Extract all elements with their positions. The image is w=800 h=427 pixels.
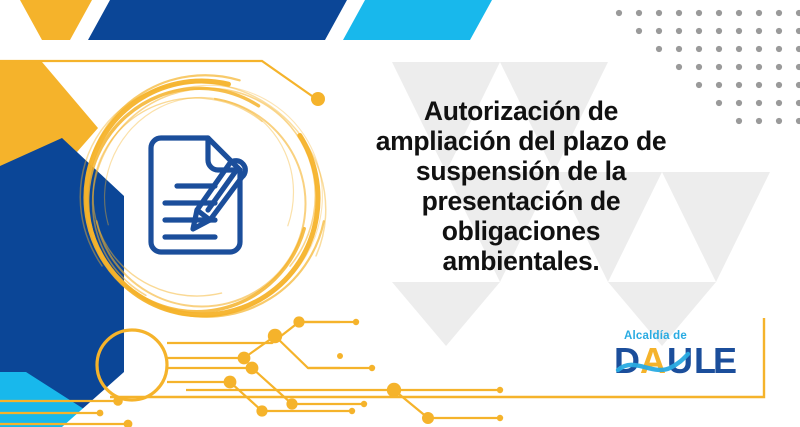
logo-letter-l: L [694, 342, 715, 381]
top-banner-chevrons [20, 0, 492, 40]
dot-row-4 [676, 64, 800, 70]
dot-row-2 [636, 28, 800, 34]
logo-letter-a: A [640, 342, 666, 381]
dot-row-7 [736, 118, 800, 124]
logo-letter-e: E [713, 342, 736, 381]
logo-wordmark: D A U L E [612, 342, 748, 382]
dot-row-1 [616, 10, 800, 16]
dot-row-3 [656, 46, 800, 52]
logo-letter-d: D [614, 342, 639, 381]
alcaldia-de-daule-logo[interactable]: Alcaldía de D A U L E [612, 330, 748, 386]
dot-row-6 [716, 100, 800, 106]
logo-top-text: Alcaldía de [624, 330, 687, 342]
yellow-node-dot [311, 92, 325, 106]
dot-row-5 [696, 82, 800, 88]
banner-poster: Autorización de ampliación del plazo de … [0, 0, 800, 427]
page-title: Autorización de ampliación del plazo de … [352, 96, 690, 276]
